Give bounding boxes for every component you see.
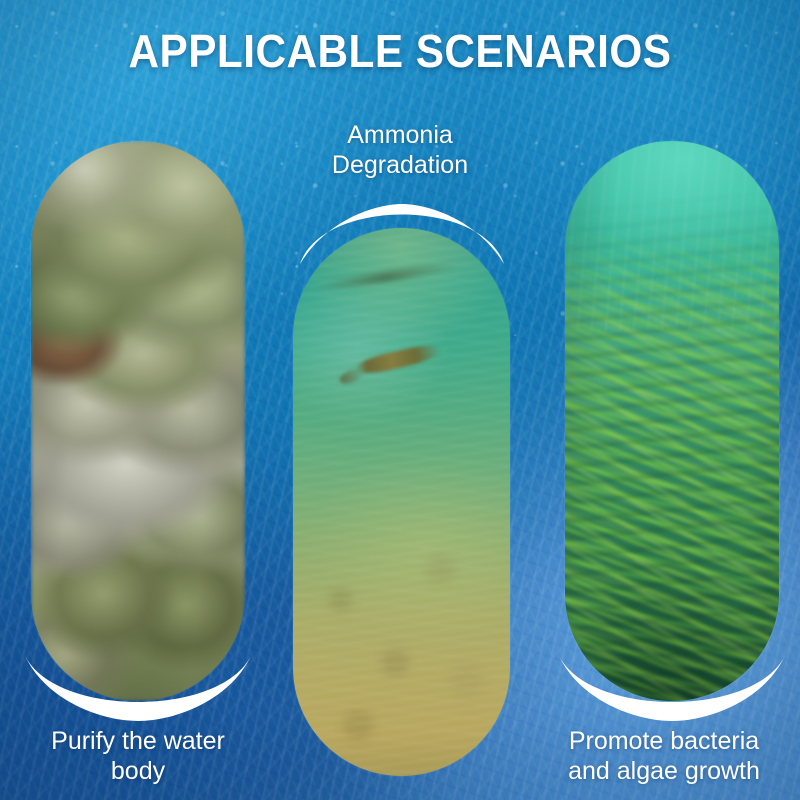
scenario-caption-ammonia-degradation: Ammonia Degradation [250,121,550,180]
scenario-image-purify-water [31,141,245,701]
river-rocks-photo [31,141,245,701]
clear-water-photo [293,228,510,776]
scenario-caption-promote-bacteria-algae: Promote bacteria and algae growth [530,727,798,786]
scenario-image-promote-bacteria-algae [565,141,779,701]
caption-line-1: Promote bacteria [530,727,798,757]
water-ripple-overlay [293,228,510,776]
scenario-caption-purify-water: Purify the water body [4,727,272,786]
scenario-image-ammonia-degradation [293,228,510,776]
caption-line-2: body [4,757,272,787]
caption-line-2: Degradation [250,151,550,181]
caption-line-2: and algae growth [530,757,798,787]
seagrass-shading [565,141,779,701]
caption-line-1: Purify the water [4,727,272,757]
caption-line-1: Ammonia [250,121,550,151]
poster-root: APPLICABLE SCENARIOS Purify the water bo… [0,0,800,800]
page-title: APPLICABLE SCENARIOS [32,28,768,74]
seagrass-photo [565,141,779,701]
river-rocks-shading [31,141,245,701]
